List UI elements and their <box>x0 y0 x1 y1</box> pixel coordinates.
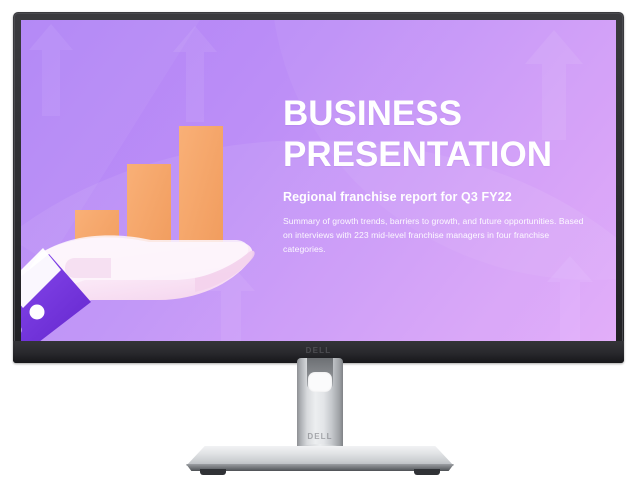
slide-subtitle: Regional franchise report for Q3 FY22 <box>283 190 603 204</box>
hand-holding-bar-chart-illustration <box>21 102 259 342</box>
monitor-stand-neck: DELL <box>297 358 343 454</box>
slide-body-text: Summary of growth trends, barriers to gr… <box>283 215 588 257</box>
stand-base-surface <box>186 446 454 466</box>
dell-stand-logo: DELL <box>307 432 332 441</box>
slide-text-block: BUSINESS PRESENTATION Regional franchise… <box>283 94 603 257</box>
background-up-arrow-bottom-right <box>547 256 593 342</box>
slide-title: BUSINESS PRESENTATION <box>283 94 603 176</box>
stand-foot-left <box>200 469 226 475</box>
illustration-thumb <box>65 258 111 278</box>
monitor-stand-base <box>186 446 454 472</box>
presentation-slide[interactable]: BUSINESS PRESENTATION Regional franchise… <box>21 20 616 342</box>
stand-foot-right <box>414 469 440 475</box>
illustration-sleeve-button-1 <box>30 305 45 320</box>
dell-bezel-logo: DELL <box>306 346 332 355</box>
cable-management-hole <box>308 372 332 392</box>
monitor: BUSINESS PRESENTATION Regional franchise… <box>13 12 624 363</box>
monitor-screen[interactable]: BUSINESS PRESENTATION Regional franchise… <box>21 20 616 342</box>
